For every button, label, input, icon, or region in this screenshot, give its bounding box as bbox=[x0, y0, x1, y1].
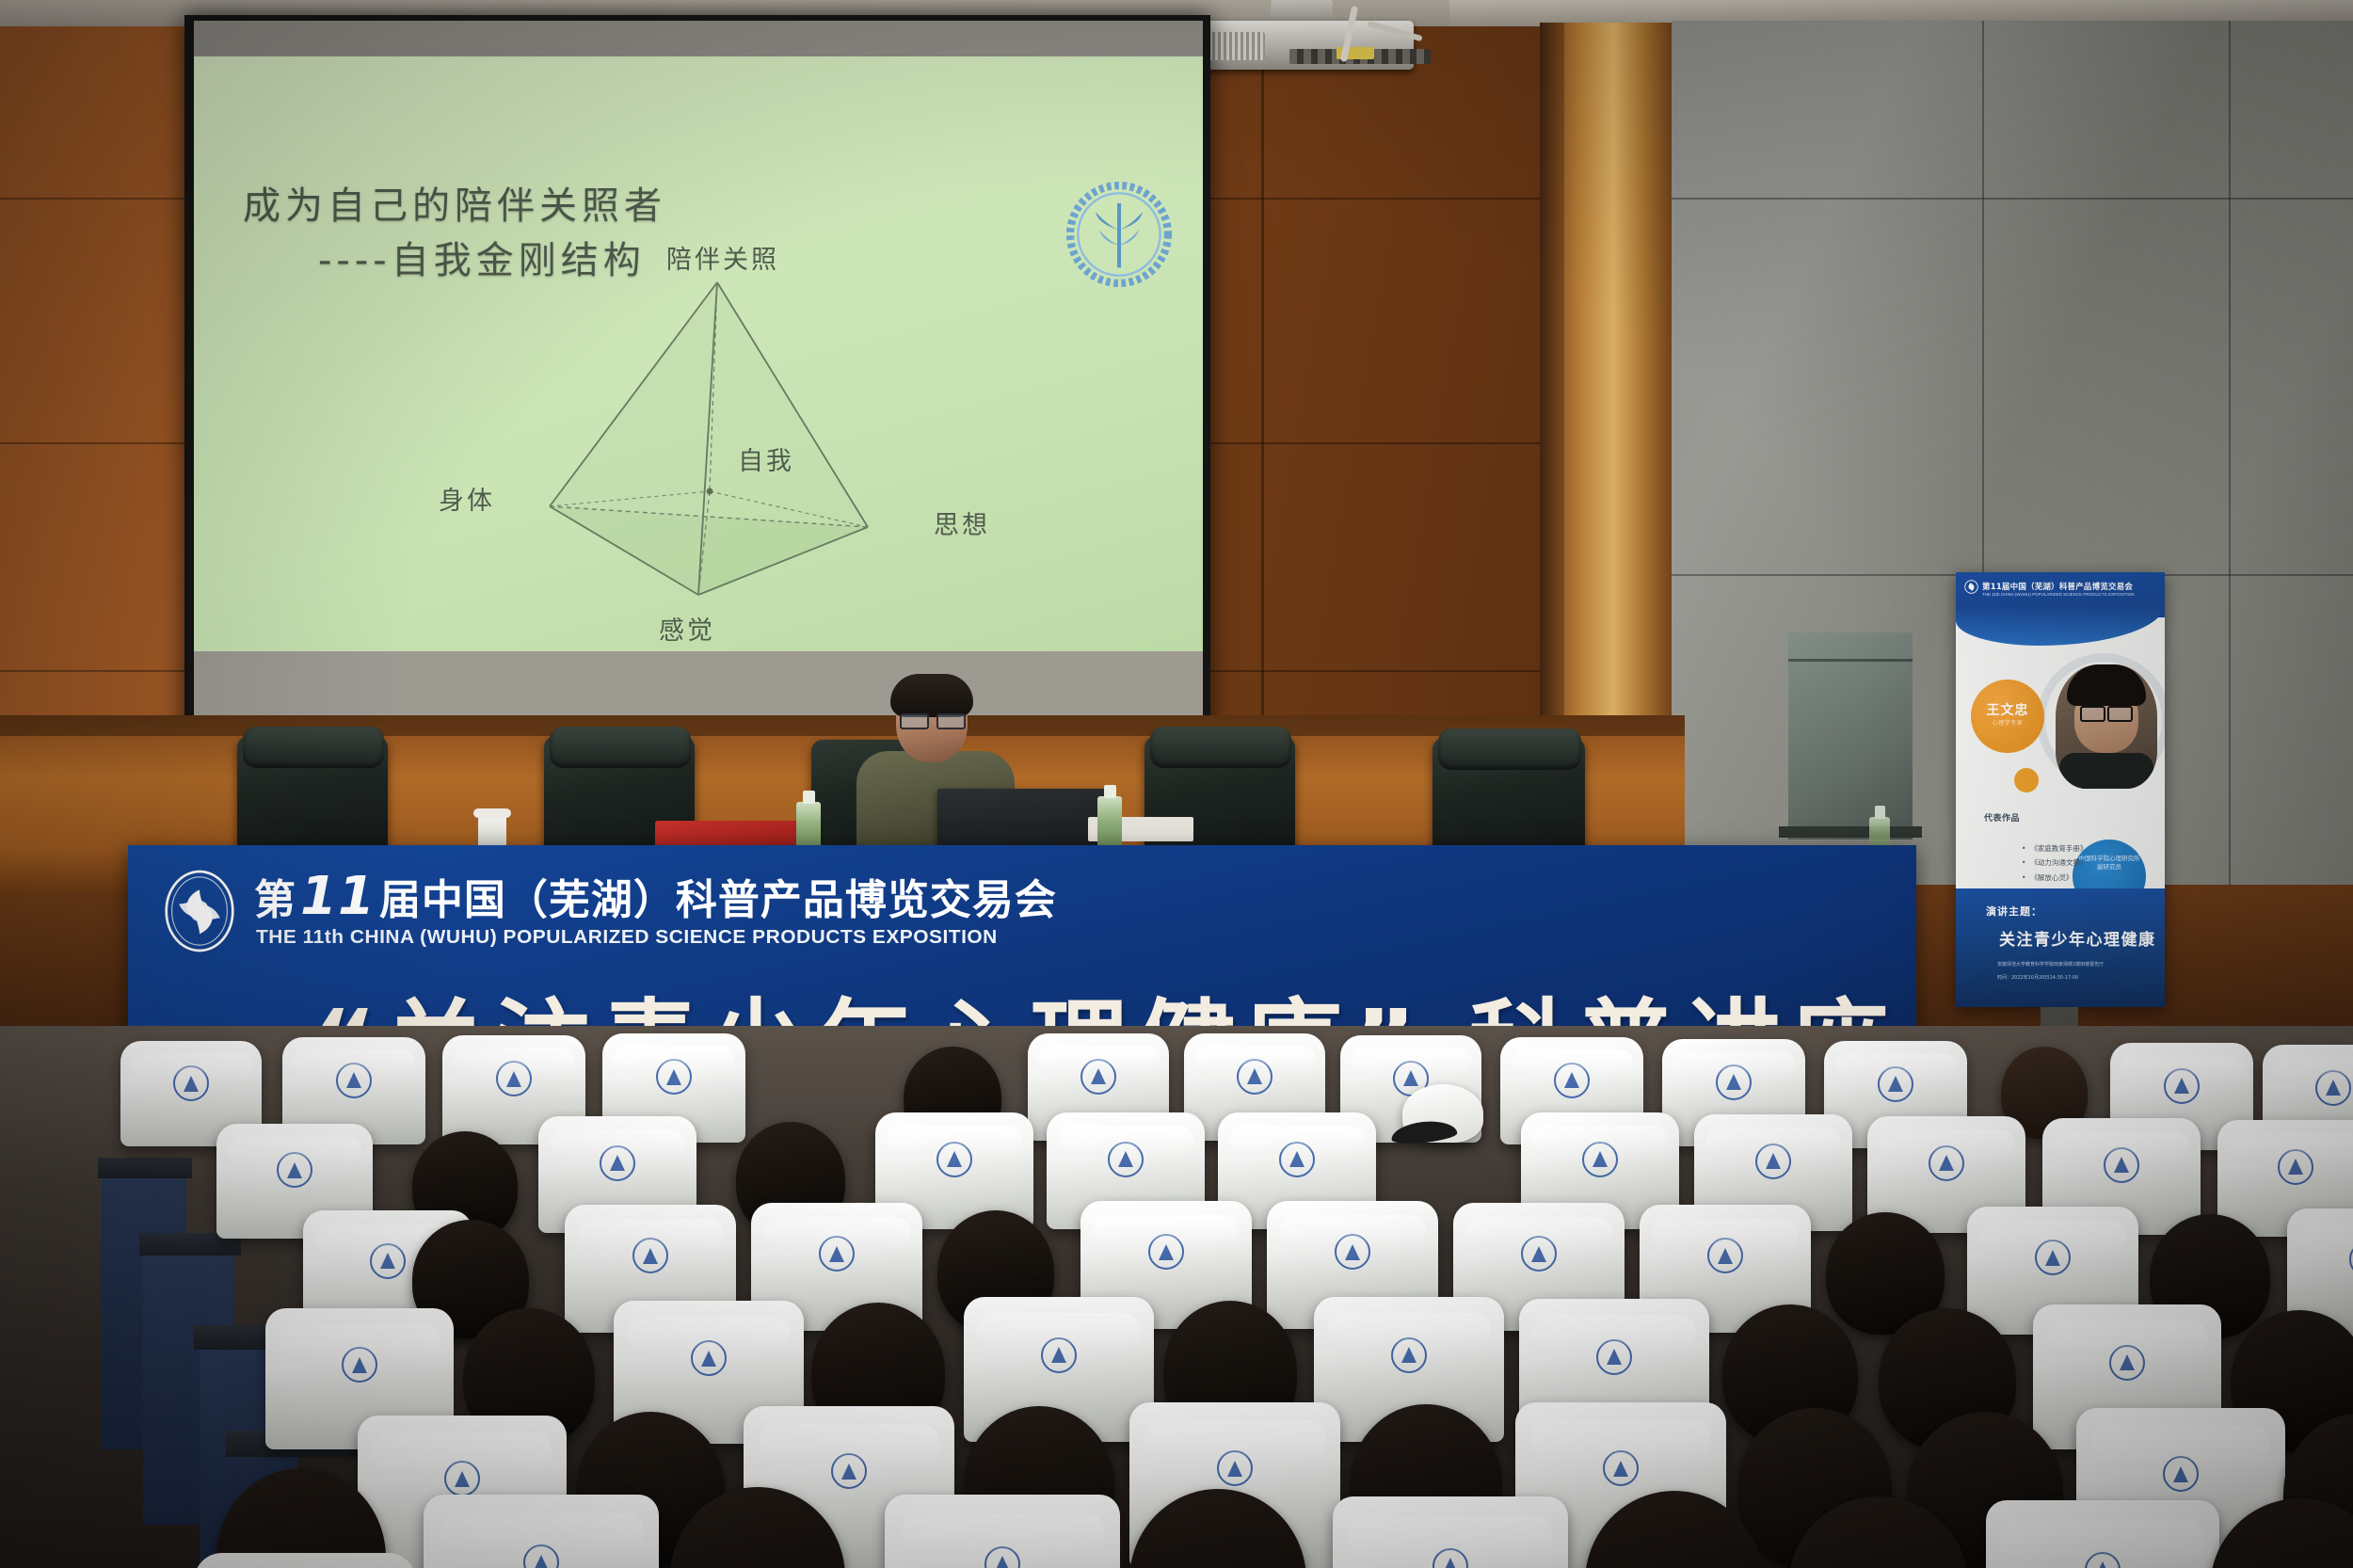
poster-wave-graphic bbox=[1956, 604, 2165, 646]
school-crest-icon bbox=[2164, 1068, 2200, 1104]
school-crest-icon bbox=[936, 1142, 972, 1177]
school-crest-icon bbox=[1603, 1450, 1639, 1486]
school-crest-icon bbox=[1716, 1064, 1752, 1100]
poster-venue: 安徽师范大学教育科学学院田家炳楼2楼田楼报告厅 bbox=[1997, 960, 2138, 970]
school-crest-icon bbox=[444, 1461, 480, 1496]
stage-chair-headrest bbox=[1150, 727, 1291, 768]
banner-header-en: THE 11th CHINA (WUHU) POPULARIZED SCIENC… bbox=[256, 926, 998, 949]
school-crest-icon bbox=[277, 1152, 312, 1188]
tetrahedron-diagram: 陪伴关照 身体 思想 感觉 自我 bbox=[463, 245, 990, 640]
school-crest-icon bbox=[1279, 1142, 1315, 1177]
poster-topic-label: 演讲主题： bbox=[1986, 904, 2042, 919]
poster-header-en: THE 11th CHINA (WUHU) POPULARIZED SCIENC… bbox=[1982, 592, 2134, 597]
stage-chair-headrest bbox=[1438, 728, 1581, 770]
poster-time: 时间：2022年10月20日14:30-17:00 bbox=[1997, 973, 2138, 984]
poster-hair bbox=[2067, 664, 2146, 706]
list-item: 《动力沟通文集》 bbox=[2022, 856, 2125, 870]
list-item: 《家庭教育手册》 bbox=[2022, 841, 2125, 856]
school-crest-icon bbox=[523, 1544, 559, 1568]
school-crest-icon bbox=[2035, 1240, 2071, 1275]
school-crest-icon bbox=[1755, 1144, 1791, 1179]
poster-shirt bbox=[2059, 753, 2153, 789]
poster-decor-dot bbox=[2014, 768, 2039, 792]
baseball-cap bbox=[1402, 1084, 1483, 1143]
school-crest-icon bbox=[1391, 1337, 1427, 1373]
exposition-emblem-icon bbox=[160, 866, 239, 956]
speaker-rollup-poster: 第11届中国（芜湖）科普产品博览交易会 THE 11th CHINA (WUHU… bbox=[1956, 572, 2165, 1007]
poster-emblem-icon bbox=[1963, 579, 1979, 595]
poster-header-cn: 第11届中国（芜湖）科普产品博览交易会 bbox=[1982, 581, 2133, 592]
school-crest-icon bbox=[1433, 1548, 1468, 1568]
pyramid-vertex-top-label: 陪伴关照 bbox=[666, 239, 779, 276]
school-crest-icon bbox=[632, 1238, 668, 1273]
audience-shirt bbox=[194, 1553, 416, 1568]
school-crest-icon bbox=[600, 1145, 635, 1181]
slide-title-line1: 成为自己的陪伴关照者 bbox=[243, 184, 666, 228]
seat-cover bbox=[885, 1495, 1120, 1568]
school-crest-icon bbox=[1217, 1450, 1253, 1486]
school-crest-icon bbox=[1080, 1059, 1116, 1095]
school-crest-icon bbox=[1237, 1059, 1273, 1095]
poster-speaker-name: 王文忠 bbox=[1980, 700, 2035, 719]
list-item: 《解放心灵》 bbox=[2022, 871, 2125, 885]
school-crest-icon bbox=[2085, 1552, 2121, 1568]
school-crest-icon bbox=[984, 1546, 1020, 1568]
school-crest-icon bbox=[342, 1347, 377, 1383]
school-crest-icon bbox=[1108, 1142, 1144, 1177]
audience-area bbox=[0, 1026, 2353, 1568]
lecture-hall-photo: 成为自己的陪伴关照者 ----自我金刚结构 bbox=[0, 0, 2353, 1568]
wall-glass-panel bbox=[1788, 632, 1913, 840]
school-crest-icon bbox=[173, 1065, 209, 1101]
pyramid-vertex-right-label: 思想 bbox=[934, 504, 990, 541]
tetrahedron-svg bbox=[463, 245, 990, 640]
window-sill bbox=[1779, 826, 1922, 838]
school-crest-icon bbox=[1554, 1063, 1590, 1098]
poster-works-heading: 代表作品 bbox=[1984, 811, 2020, 824]
wall-glass-divider bbox=[1788, 659, 1913, 662]
poster-speaker-photo bbox=[2056, 664, 2157, 789]
school-crest-icon bbox=[691, 1340, 727, 1376]
pyramid-vertex-bottom-label: 感觉 bbox=[659, 610, 715, 647]
stage-chair-headrest bbox=[550, 727, 691, 768]
school-crest-icon bbox=[656, 1059, 692, 1095]
seat-cover bbox=[1986, 1500, 2219, 1568]
poster-topic: 关注青少年心理健康 bbox=[1999, 926, 2156, 950]
speaker-glasses-icon bbox=[900, 713, 966, 726]
school-crest-icon bbox=[2278, 1149, 2313, 1185]
poster-works-list: 《家庭教育手册》 《动力沟通文集》 《解放心灵》 bbox=[1984, 841, 2125, 885]
banner-edition-number: 11 bbox=[296, 866, 379, 927]
school-crest-icon bbox=[336, 1063, 372, 1098]
stage-chair-headrest bbox=[243, 727, 384, 768]
school-crest-icon bbox=[819, 1236, 855, 1272]
panel-seam bbox=[2229, 21, 2231, 981]
institute-of-psychology-logo-icon bbox=[1064, 179, 1175, 290]
school-crest-icon bbox=[2104, 1147, 2139, 1183]
school-crest-icon bbox=[1521, 1236, 1557, 1272]
speaker-hair bbox=[890, 674, 973, 717]
school-crest-icon bbox=[2315, 1070, 2351, 1106]
school-crest-icon bbox=[1707, 1238, 1743, 1273]
desk-top bbox=[98, 1158, 192, 1178]
school-crest-icon bbox=[496, 1061, 532, 1096]
pyramid-vertex-left-label: 身体 bbox=[439, 480, 495, 517]
school-crest-icon bbox=[1878, 1066, 1913, 1102]
school-crest-icon bbox=[831, 1453, 867, 1489]
projected-slide: 成为自己的陪伴关照者 ----自我金刚结构 bbox=[194, 56, 1203, 651]
pyramid-center-label: 自我 bbox=[738, 440, 794, 477]
school-crest-icon bbox=[1148, 1234, 1184, 1270]
panel-seam bbox=[1672, 198, 2353, 200]
school-crest-icon bbox=[370, 1243, 406, 1279]
school-crest-icon bbox=[2109, 1345, 2145, 1381]
seat-cover bbox=[424, 1495, 659, 1568]
school-crest-icon bbox=[2349, 1241, 2353, 1277]
seat-cover bbox=[1333, 1496, 1568, 1568]
banner-header-cn: 第11届中国（芜湖）科普产品博览交易会 bbox=[254, 866, 1057, 927]
school-crest-icon bbox=[1596, 1339, 1632, 1375]
school-crest-icon bbox=[1929, 1145, 1964, 1181]
school-crest-icon bbox=[2163, 1456, 2199, 1492]
school-crest-icon bbox=[1041, 1337, 1077, 1373]
poster-glasses-icon bbox=[2080, 706, 2133, 718]
poster-speaker-subtitle: 心理学专家 bbox=[1980, 718, 2035, 727]
school-crest-icon bbox=[1582, 1142, 1618, 1177]
school-crest-icon bbox=[1335, 1234, 1370, 1270]
